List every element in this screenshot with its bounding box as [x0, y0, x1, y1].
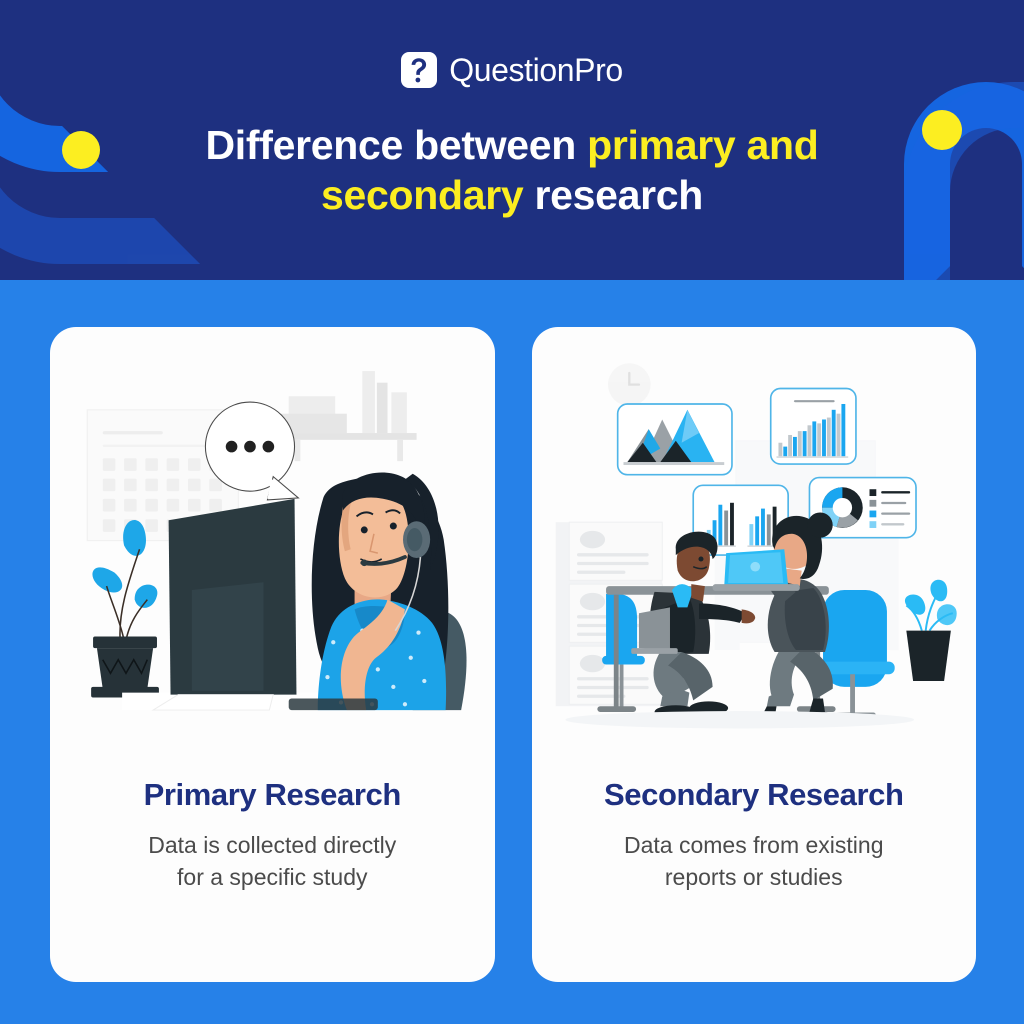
potted-plant — [904, 580, 956, 681]
header-banner: QuestionPro Difference between primary a… — [0, 0, 1024, 280]
brand-logo: QuestionPro — [0, 52, 1024, 88]
card-description-secondary: Data comes from existing reports or stud… — [624, 830, 883, 893]
comparison-cards: Primary Research Data is collected direc… — [50, 327, 976, 982]
brand-name: QuestionPro — [449, 54, 622, 86]
title-line-1-accent: primary and — [587, 122, 818, 168]
title-line-1-prefix: Difference between — [205, 122, 587, 168]
page-title: Difference between primary and secondary… — [0, 120, 1024, 220]
wall-shelf-with-boxes — [279, 371, 417, 461]
card-title-secondary: Secondary Research — [604, 777, 904, 813]
card-description-primary: Data is collected directly for a specifi… — [148, 830, 396, 893]
card-title-primary: Primary Research — [144, 777, 401, 813]
title-line-2-accent: secondary — [321, 172, 523, 218]
desktop-monitor — [153, 499, 296, 710]
card-description-secondary-line2: reports or studies — [665, 864, 843, 890]
woman-with-headset — [312, 472, 449, 710]
card-description-primary-line1: Data is collected directly — [148, 832, 396, 858]
card-secondary-research[interactable]: Secondary Research Data comes from exist… — [532, 327, 977, 982]
bar-chart-card — [770, 388, 855, 464]
card-primary-research[interactable]: Primary Research Data is collected direc… — [50, 327, 495, 982]
questionpro-question-mark-icon — [401, 52, 437, 88]
call-center-agent-at-computer-illustration — [64, 343, 481, 773]
potted-plant — [91, 520, 159, 697]
wall-clock — [607, 363, 650, 406]
card-description-primary-line2: for a specific study — [177, 864, 367, 890]
title-line-2-suffix: research — [523, 172, 703, 218]
two-colleagues-reviewing-data-illustration — [546, 343, 963, 773]
mountain-area-chart-card — [617, 404, 731, 475]
card-description-secondary-line1: Data comes from existing — [624, 832, 883, 858]
